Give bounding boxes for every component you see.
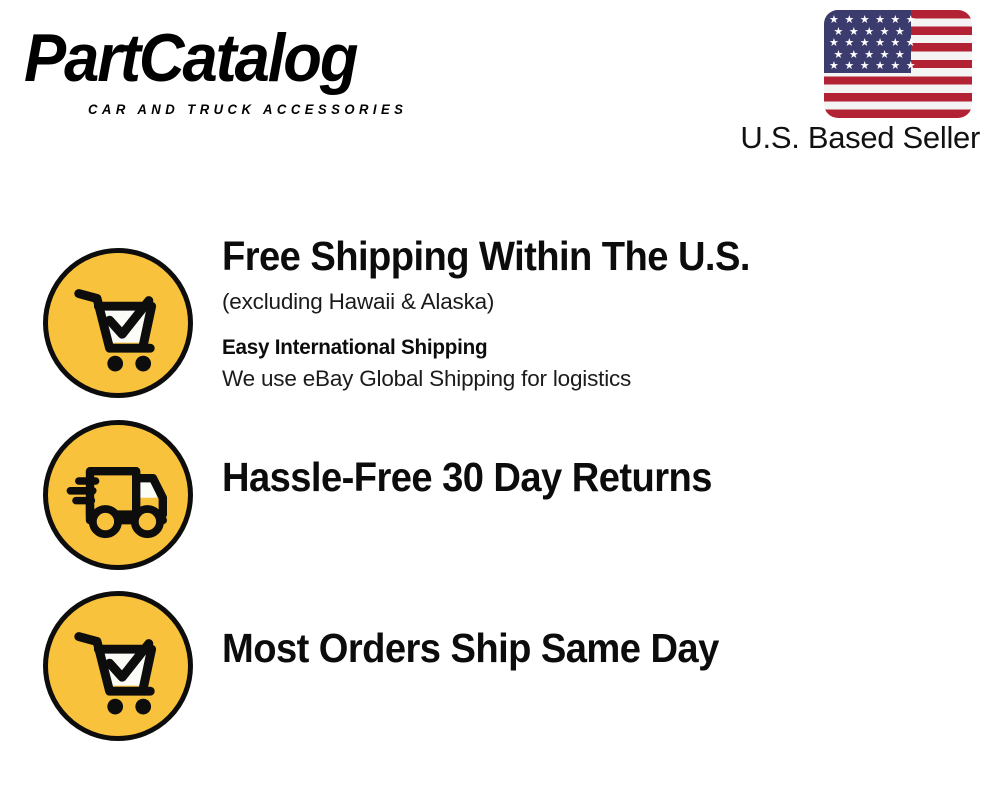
feature-heading: Most Orders Ship Same Day <box>222 624 927 672</box>
feature-heading: Free Shipping Within The U.S. <box>222 232 927 280</box>
feature-text: Free Shipping Within The U.S. (excluding… <box>222 232 980 394</box>
seller-badge: ★ ★ ★ ★ ★ ★ ★ ★ ★ ★ ★ ★ ★ ★ ★ ★ ★ ★ ★ ★ … <box>716 8 986 158</box>
us-flag-icon: ★ ★ ★ ★ ★ ★ ★ ★ ★ ★ ★ ★ ★ ★ ★ ★ ★ ★ ★ ★ … <box>824 10 972 118</box>
page-header: PartCatalog CAR AND TRUCK ACCESSORIES ★ … <box>0 0 1000 170</box>
feature-subnote: We use eBay Global Shipping for logistic… <box>222 363 980 394</box>
brand-tagline: CAR AND TRUCK ACCESSORIES <box>88 102 407 117</box>
shopping-cart-check-icon <box>43 591 193 741</box>
flag-stars: ★ ★ ★ ★ ★ ★ ★ ★ ★ ★ ★ ★ ★ ★ ★ ★ ★ ★ ★ ★ … <box>824 10 972 118</box>
brand-wordmark: PartCatalog <box>24 22 356 94</box>
feature-subtext: (excluding Hawaii & Alaska) <box>222 286 980 318</box>
feature-text: Most Orders Ship Same Day <box>222 624 980 672</box>
seller-label: U.S. Based Seller <box>740 120 980 156</box>
feature-subheading: Easy International Shipping <box>222 332 950 362</box>
feature-row: Free Shipping Within The U.S. (excluding… <box>0 232 1000 402</box>
feature-row: Most Orders Ship Same Day <box>0 589 1000 749</box>
brand-logo[interactable]: PartCatalog CAR AND TRUCK ACCESSORIES <box>24 22 494 117</box>
shopping-cart-check-icon <box>43 248 193 398</box>
delivery-truck-icon <box>43 420 193 570</box>
feature-text: Hassle-Free 30 Day Returns <box>222 453 980 501</box>
feature-heading: Hassle-Free 30 Day Returns <box>222 453 927 501</box>
feature-row: Hassle-Free 30 Day Returns <box>0 418 1000 578</box>
